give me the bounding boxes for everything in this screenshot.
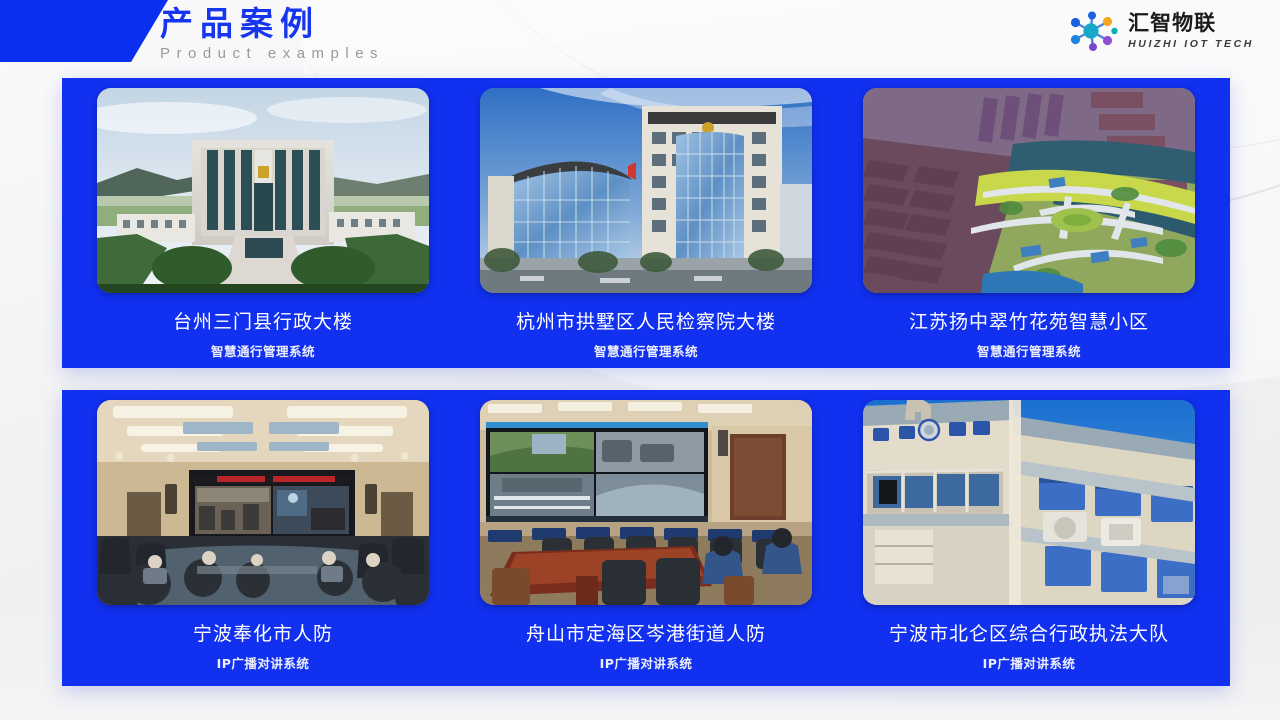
header-title-group: 产品案例 Product examples: [160, 2, 384, 64]
slide-header: 产品案例 Product examples: [0, 0, 1280, 72]
case-card-title: 宁波奉化市人防: [193, 619, 333, 646]
case-card[interactable]: 江苏扬中翠竹花苑智慧小区 智慧通行管理系统: [859, 88, 1199, 368]
case-card-title: 江苏扬中翠竹花苑智慧小区: [909, 307, 1149, 334]
case-card-subtitle: 智慧通行管理系统: [211, 341, 315, 360]
page-title: 产品案例: [160, 2, 384, 46]
case-card-title: 宁波市北仑区综合行政执法大队: [889, 619, 1169, 646]
case-card-subtitle: 智慧通行管理系统: [977, 341, 1081, 360]
case-card[interactable]: 宁波市北仑区综合行政执法大队 IP广播对讲系统: [859, 400, 1199, 686]
case-card[interactable]: 宁波奉化市人防 IP广播对讲系统: [93, 400, 433, 686]
molecule-network-icon: [1067, 11, 1119, 51]
case-card-subtitle: IP广播对讲系统: [600, 653, 693, 672]
logo-name-en: HUIZHI IOT TECH: [1128, 39, 1254, 50]
case-card-title: 杭州市拱墅区人民检察院大楼: [516, 307, 776, 334]
case-card-title: 舟山市定海区岑港街道人防: [526, 619, 766, 646]
page-subtitle: Product examples: [160, 44, 384, 64]
case-card-subtitle: IP广播对讲系统: [983, 653, 1076, 672]
case-panel-row-2: 宁波奉化市人防 IP广播对讲系统: [62, 390, 1230, 686]
brand-logo: 汇智物联 HUIZHI IOT TECH: [1067, 11, 1254, 51]
case-card-subtitle: 智慧通行管理系统: [594, 341, 698, 360]
case-card[interactable]: 台州三门县行政大楼 智慧通行管理系统: [93, 88, 433, 368]
zhoushan-dinghai-cengang-civil-defense-control-room-photo: [480, 400, 812, 605]
hangzhou-gongshu-procuratorate-building-photo: [480, 88, 812, 293]
ningbo-beilun-law-enforcement-building-photo: [863, 400, 1195, 605]
case-panel-row-1: 台州三门县行政大楼 智慧通行管理系统: [62, 78, 1230, 368]
logo-name-cn: 汇智物联: [1128, 13, 1254, 34]
header-accent-shape: [0, 0, 168, 62]
taizhou-sanmen-administration-building-photo: [97, 88, 429, 293]
case-card[interactable]: 舟山市定海区岑港街道人防 IP广播对讲系统: [476, 400, 816, 686]
case-card[interactable]: 杭州市拱墅区人民检察院大楼 智慧通行管理系统: [476, 88, 816, 368]
logo-text-group: 汇智物联 HUIZHI IOT TECH: [1128, 13, 1254, 50]
case-card-subtitle: IP广播对讲系统: [217, 653, 310, 672]
jiangsu-yangzhong-cuizhu-huayuan-community-aerial-photo: [863, 88, 1195, 293]
ningbo-fenghua-civil-defense-conference-room-photo: [97, 400, 429, 605]
case-card-title: 台州三门县行政大楼: [173, 307, 353, 334]
